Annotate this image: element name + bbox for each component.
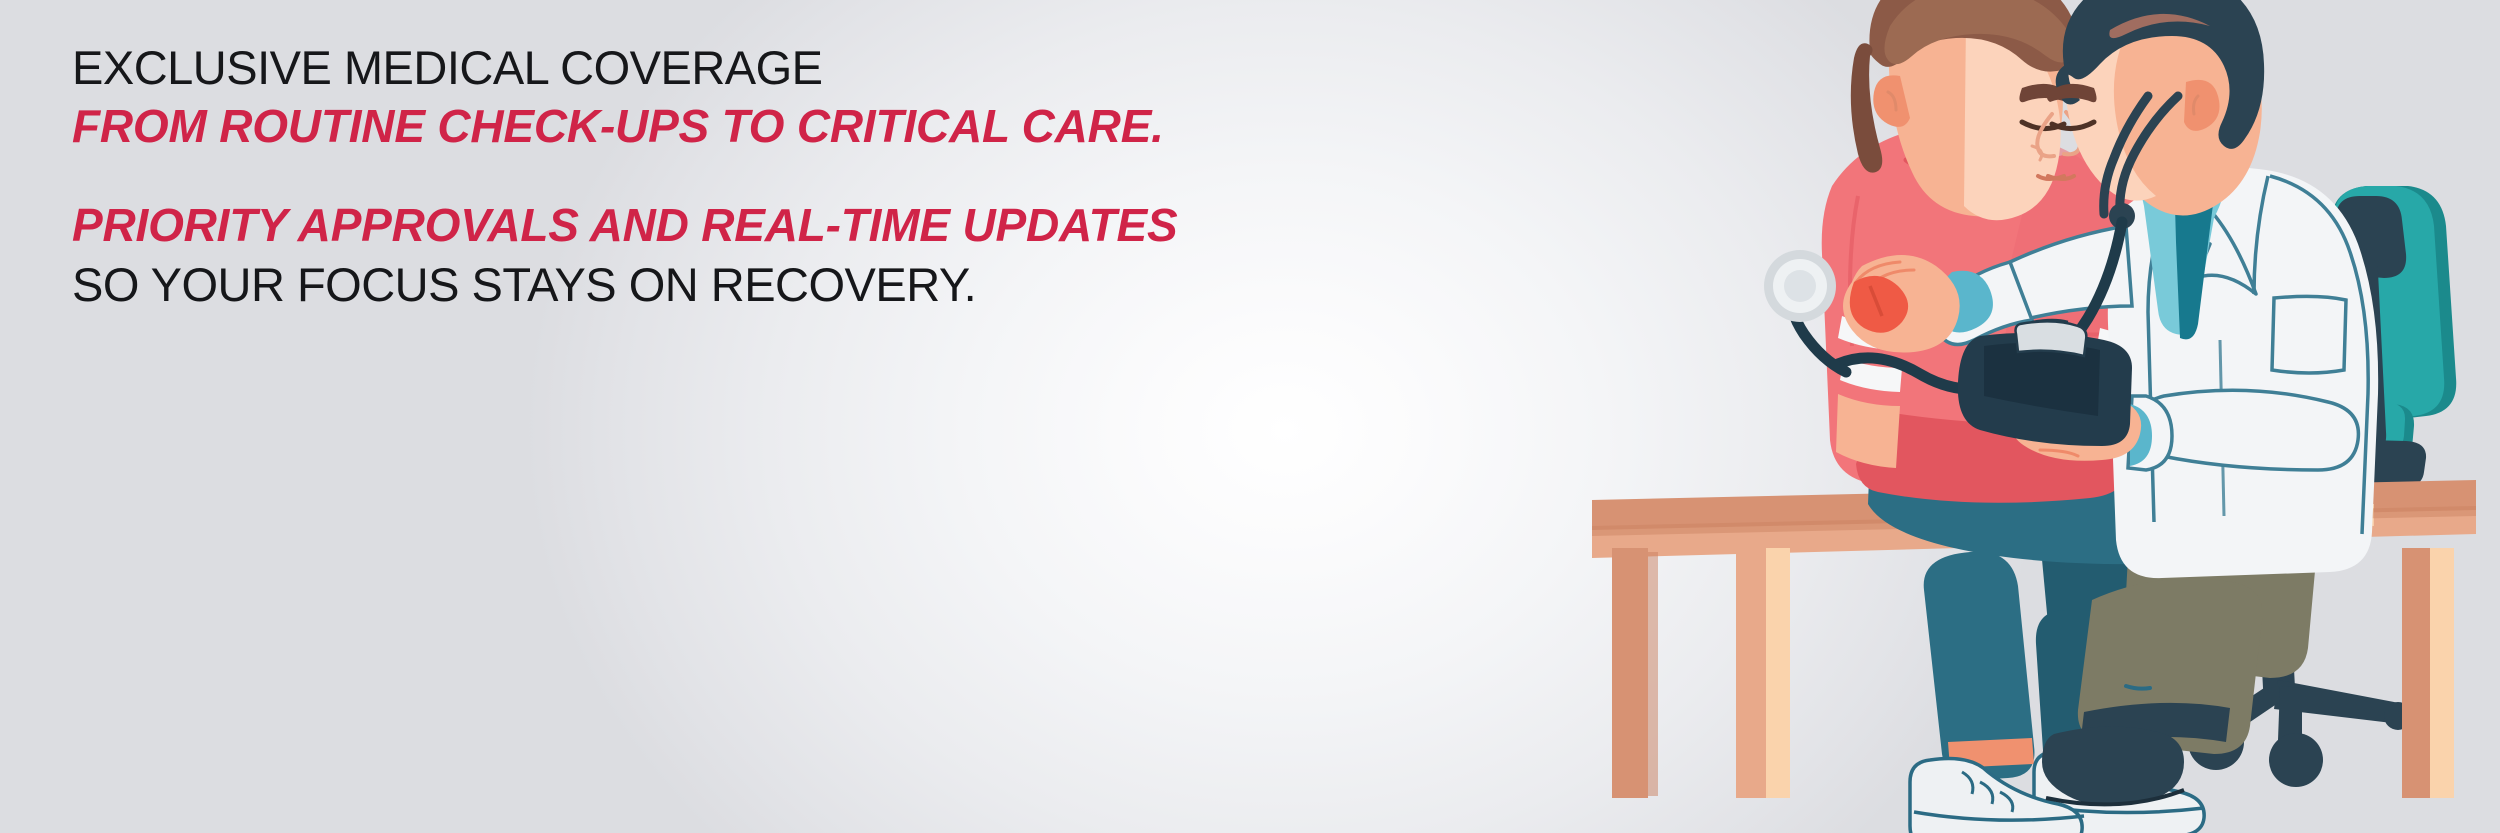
headline-line-4: SO YOUR FOCUS STAYS ON RECOVERY. xyxy=(72,261,1392,308)
doctor-patient-illustration xyxy=(1570,0,2500,833)
headline-block: EXCLUSIVE MEDICAL COVERAGE FROM ROUTINE … xyxy=(72,44,1392,308)
headline-line-3: PRIORITY APPROVALS AND REAL-TIME UPDATES xyxy=(72,202,1392,248)
medical-coverage-banner: EXCLUSIVE MEDICAL COVERAGE FROM ROUTINE … xyxy=(0,0,2500,833)
headline-line-1: EXCLUSIVE MEDICAL COVERAGE xyxy=(72,44,1392,91)
headline-spacer xyxy=(72,149,1392,202)
headline-line-2: FROM ROUTINE CHECK-UPS TO CRITICAL CARE. xyxy=(72,103,1392,149)
